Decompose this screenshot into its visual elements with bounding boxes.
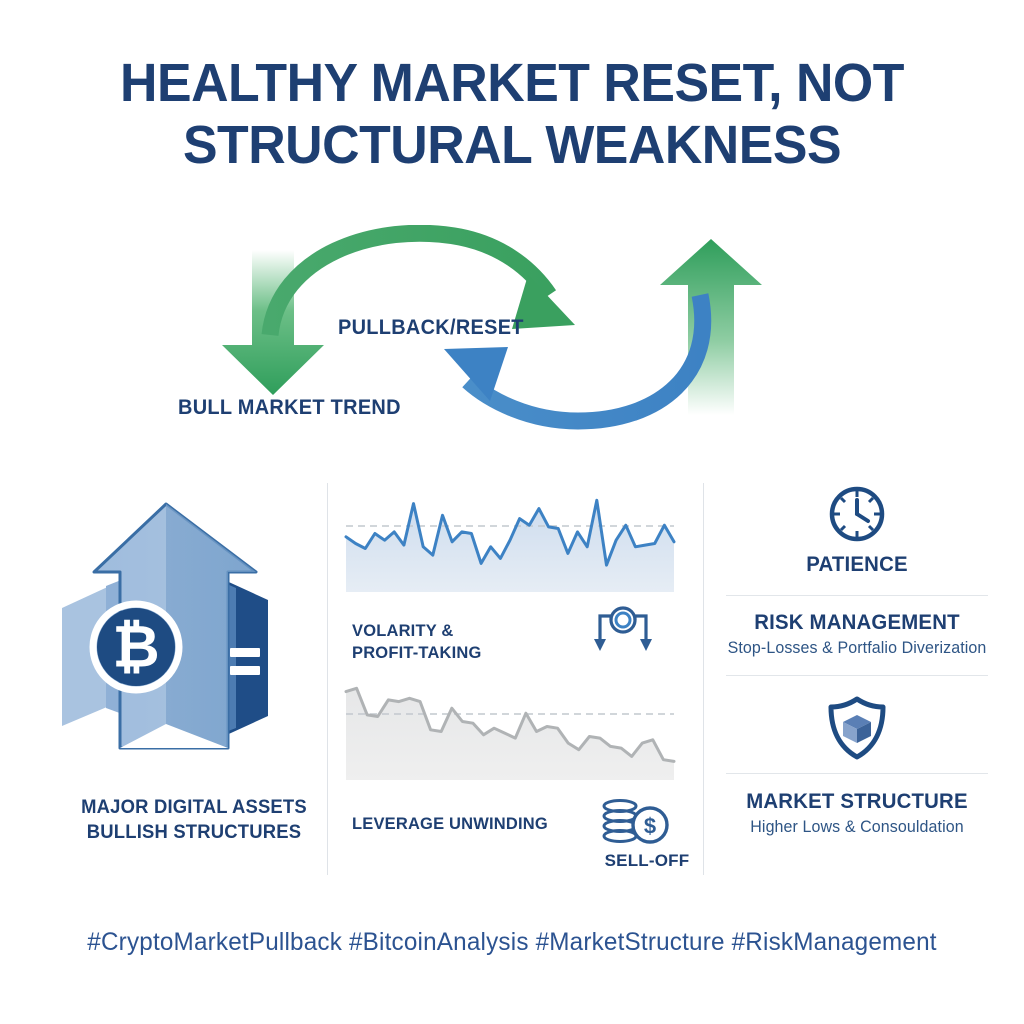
digital-assets-caption: MAJOR DIGITAL ASSETS BULLISH STRUCTURES bbox=[64, 795, 324, 845]
clock-icon bbox=[712, 483, 1002, 545]
digital-assets-caption-line-2: BULLISH STRUCTURES bbox=[87, 822, 301, 843]
digital-assets-caption-line-1: MAJOR DIGITAL ASSETS bbox=[81, 797, 307, 818]
svg-text:$: $ bbox=[644, 814, 656, 839]
leverage-chart bbox=[340, 675, 680, 780]
charts-panel: VOLARITY & PROFIT-TAKING bbox=[340, 483, 696, 878]
hashtags-footer: #CryptoMarketPullback #BitcoinAnalysis #… bbox=[15, 928, 1008, 957]
risk-management-subtitle: Stop-Losses & Portfalio Diverization bbox=[716, 639, 997, 658]
selloff-label: SELL-OFF bbox=[592, 851, 702, 871]
bull-market-trend-label: BULL MARKET TREND bbox=[178, 396, 401, 420]
title-line-2: STRUCTURAL WEAKNESS bbox=[20, 114, 1003, 176]
patience-title: PATIENCE bbox=[716, 553, 997, 577]
principle-patience: PATIENCE bbox=[712, 483, 1002, 596]
principles-panel: PATIENCE RISK MANAGEMENT Stop-Losses & P… bbox=[712, 483, 1002, 878]
principle-risk-management: RISK MANAGEMENT Stop-Losses & Portfalio … bbox=[712, 611, 1002, 676]
digital-assets-panel: ₿ MAJOR DIGITAL ASSETS BULLISH STRUCTURE… bbox=[60, 480, 328, 880]
volatility-spread-icon bbox=[590, 603, 656, 662]
volatility-caption-line-2: PROFIT-TAKING bbox=[352, 643, 482, 662]
volatility-caption: VOLARITY & PROFIT-TAKING bbox=[352, 620, 482, 664]
page-title: HEALTHY MARKET RESET, NOT STRUCTURAL WEA… bbox=[20, 52, 1003, 176]
infographic-canvas: HEALTHY MARKET RESET, NOT STRUCTURAL WEA… bbox=[0, 0, 1024, 1024]
principle-divider-3 bbox=[726, 773, 988, 774]
blue-cycle-arrow bbox=[444, 295, 703, 421]
layered-arrow-illustration: ₿ bbox=[60, 480, 328, 780]
principle-market-structure: MARKET STRUCTURE Higher Lows & Consoulda… bbox=[712, 695, 1002, 837]
volatility-chart bbox=[340, 487, 680, 592]
bitcoin-symbol: ₿ bbox=[112, 615, 159, 680]
shield-cube-icon bbox=[712, 695, 1002, 761]
panel-divider-right bbox=[703, 483, 704, 875]
risk-management-title: RISK MANAGEMENT bbox=[716, 611, 997, 635]
pullback-reset-label: PULLBACK/RESET bbox=[338, 316, 524, 340]
market-structure-subtitle: Higher Lows & Consouldation bbox=[716, 818, 997, 837]
principle-divider-2 bbox=[726, 675, 988, 676]
coins-dollar-icon: $ bbox=[598, 795, 670, 850]
market-structure-title: MARKET STRUCTURE bbox=[716, 790, 997, 814]
title-line-1: HEALTHY MARKET RESET, NOT bbox=[120, 53, 904, 113]
volatility-caption-line-1: VOLARITY & bbox=[352, 621, 454, 640]
principle-divider-1 bbox=[726, 595, 988, 596]
leverage-caption: LEVERAGE UNWINDING bbox=[352, 813, 548, 835]
